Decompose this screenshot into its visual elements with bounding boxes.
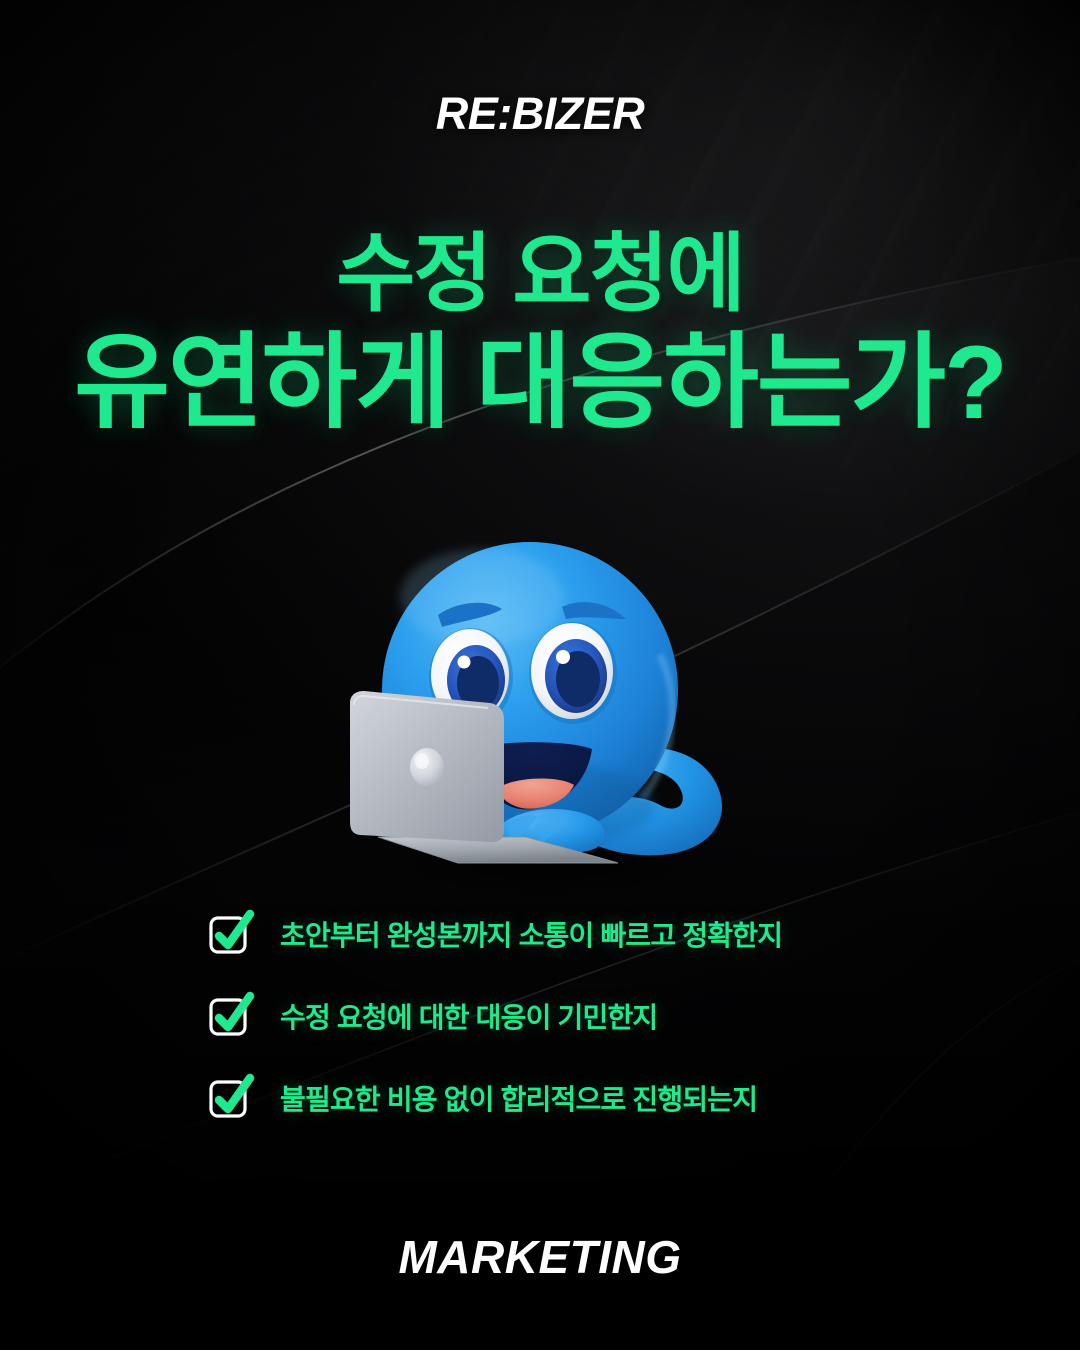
- checklist-item-label: 불필요한 비용 없이 합리적으로 진행되는지: [280, 1078, 757, 1118]
- blue-mascot-with-laptop-illustration: [330, 505, 750, 905]
- checked-checkbox-icon: [208, 994, 252, 1038]
- checklist-item-label: 초안부터 완성본까지 소통이 빠르고 정확한지: [280, 914, 782, 954]
- headline-line-2: 유연하게 대응하는가?: [0, 327, 1080, 439]
- headline-line-1: 수정 요청에: [0, 228, 1080, 321]
- mascot-right-eye: [529, 622, 617, 724]
- checklist-item: 수정 요청에 대한 대응이 기민한지: [208, 994, 782, 1038]
- poster-canvas: RE:BIZER 수정 요청에 유연하게 대응하는가?: [0, 0, 1080, 1350]
- footer-category-label: MARKETING: [0, 1230, 1080, 1284]
- laptop-logo-knob: [410, 748, 444, 786]
- checklist-item-label: 수정 요청에 대한 대응이 기민한지: [280, 996, 657, 1036]
- headline: 수정 요청에 유연하게 대응하는가?: [0, 228, 1080, 439]
- checked-checkbox-icon: [208, 1076, 252, 1120]
- checklist-item: 불필요한 비용 없이 합리적으로 진행되는지: [208, 1076, 782, 1120]
- brand-logo: RE:BIZER: [0, 88, 1080, 140]
- checklist-item: 초안부터 완성본까지 소통이 빠르고 정확한지: [208, 912, 782, 956]
- checked-checkbox-icon: [208, 912, 252, 956]
- checklist: 초안부터 완성본까지 소통이 빠르고 정확한지 수정 요청에 대한 대응이 기민…: [208, 912, 782, 1120]
